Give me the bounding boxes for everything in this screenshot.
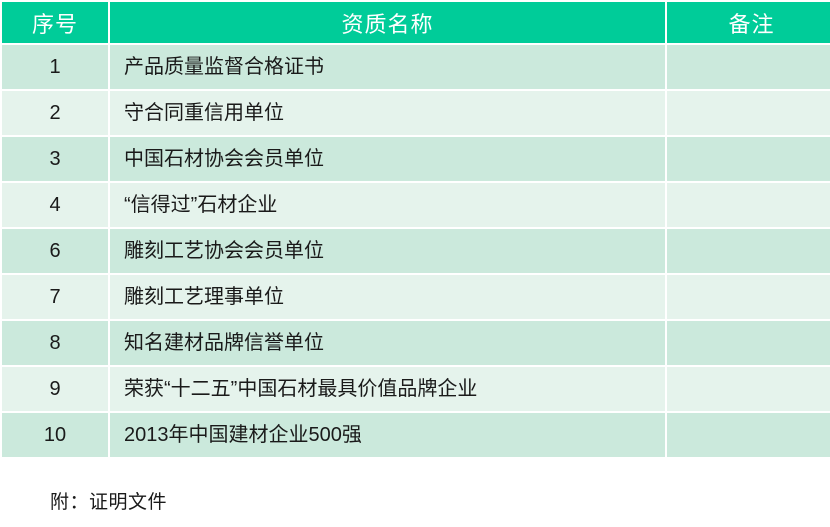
cell-name: 荣获“十二五”中国石材最具价值品牌企业: [110, 367, 665, 411]
column-header-name: 资质名称: [110, 2, 665, 43]
table-row: 9 荣获“十二五”中国石材最具价值品牌企业: [2, 367, 830, 411]
attachment-note: 附：证明文件: [50, 487, 167, 514]
cell-seq: 8: [2, 321, 108, 365]
cell-note: [667, 275, 830, 319]
table-header-row: 序号 资质名称 备注: [2, 2, 830, 43]
cell-note: [667, 183, 830, 227]
column-header-seq: 序号: [2, 2, 108, 43]
cell-note: [667, 321, 830, 365]
cell-name: 雕刻工艺协会会员单位: [110, 229, 665, 273]
table-row: 1 产品质量监督合格证书: [2, 45, 830, 89]
cell-name: “信得过”石材企业: [110, 183, 665, 227]
cell-name: 2013年中国建材企业500强: [110, 413, 665, 457]
cell-name: 中国石材协会会员单位: [110, 137, 665, 181]
qualification-table: 序号 资质名称 备注 1 产品质量监督合格证书 2 守合同重信用单位 3 中国石…: [0, 0, 830, 459]
cell-note: [667, 137, 830, 181]
cell-note: [667, 229, 830, 273]
cell-name: 产品质量监督合格证书: [110, 45, 665, 89]
cell-note: [667, 45, 830, 89]
cell-note: [667, 91, 830, 135]
cell-note: [667, 413, 830, 457]
table-row: 6 雕刻工艺协会会员单位: [2, 229, 830, 273]
cell-seq: 7: [2, 275, 108, 319]
table-row: 10 2013年中国建材企业500强: [2, 413, 830, 457]
table-row: 4 “信得过”石材企业: [2, 183, 830, 227]
cell-seq: 1: [2, 45, 108, 89]
cell-seq: 4: [2, 183, 108, 227]
cell-name: 雕刻工艺理事单位: [110, 275, 665, 319]
table-row: 8 知名建材品牌信誉单位: [2, 321, 830, 365]
column-header-note: 备注: [667, 2, 830, 43]
table-header: 序号 资质名称 备注: [2, 2, 830, 43]
cell-name: 守合同重信用单位: [110, 91, 665, 135]
document-page: 序号 资质名称 备注 1 产品质量监督合格证书 2 守合同重信用单位 3 中国石…: [0, 0, 830, 527]
cell-seq: 2: [2, 91, 108, 135]
cell-name: 知名建材品牌信誉单位: [110, 321, 665, 365]
cell-seq: 6: [2, 229, 108, 273]
cell-note: [667, 367, 830, 411]
table-row: 2 守合同重信用单位: [2, 91, 830, 135]
cell-seq: 3: [2, 137, 108, 181]
cell-seq: 10: [2, 413, 108, 457]
table-row: 7 雕刻工艺理事单位: [2, 275, 830, 319]
cell-seq: 9: [2, 367, 108, 411]
table-body: 1 产品质量监督合格证书 2 守合同重信用单位 3 中国石材协会会员单位 4 “…: [2, 45, 830, 457]
table-row: 3 中国石材协会会员单位: [2, 137, 830, 181]
